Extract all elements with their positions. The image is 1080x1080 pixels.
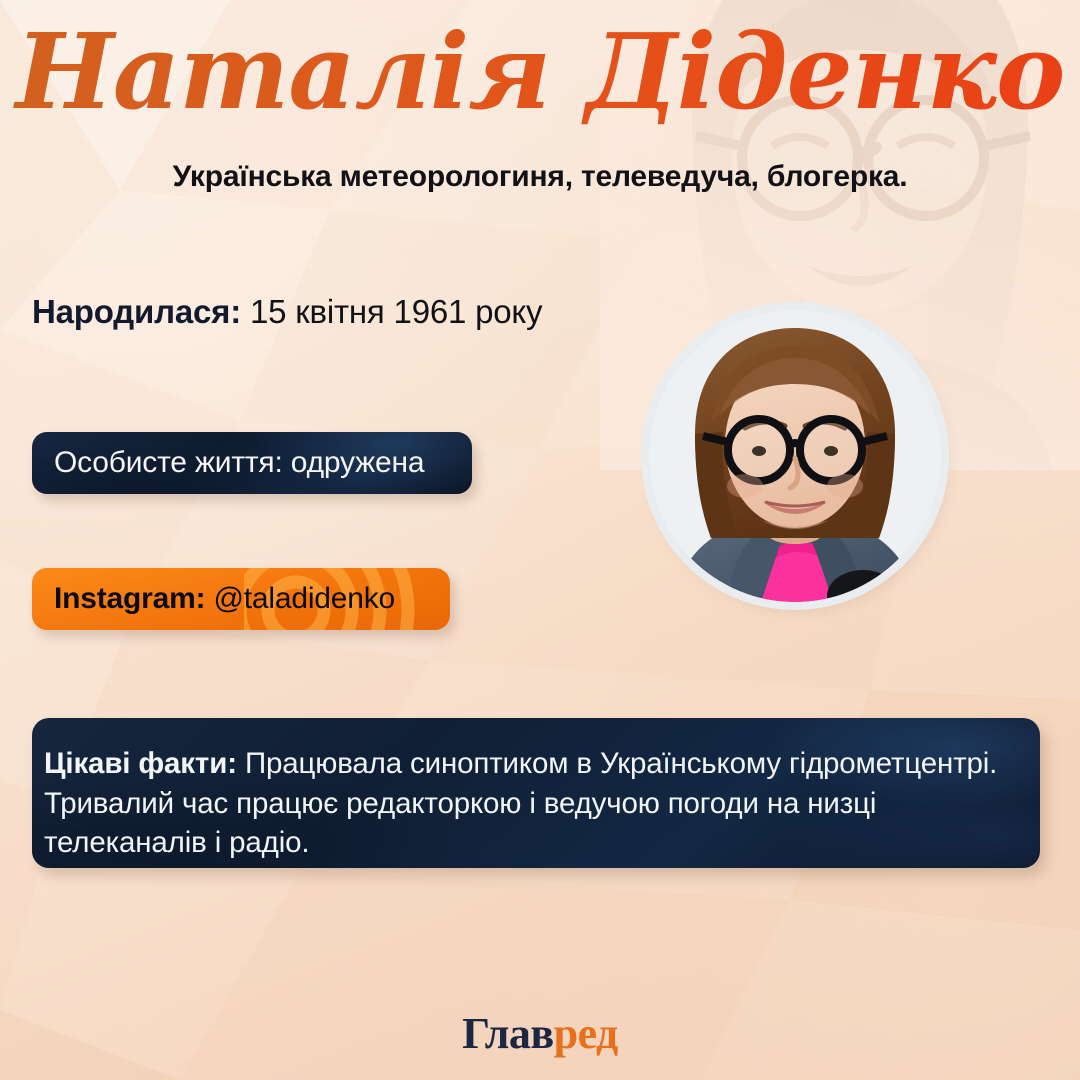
instagram-badge[interactable]: Instagram: @taladidenko [32,568,450,630]
portrait-avatar [649,310,941,602]
page-title: Наталія Діденко [0,14,1080,130]
facts-text: Цікаві факти: Працювала синоптиком в Укр… [32,718,1040,863]
infographic-card: Наталія Діденко Українська метеорологиня… [0,0,1080,1080]
instagram-label: Instagram: [54,582,205,615]
instagram-handle: @taladidenko [214,582,396,615]
page-subtitle: Українська метеорологиня, телеведуча, бл… [0,160,1080,194]
logo-part-orange: ред [554,1009,618,1058]
site-logo[interactable]: Главред [0,1008,1080,1059]
instagram-text: Instagram: @taladidenko [32,582,417,616]
birth-date-label: Народилася: [32,293,241,330]
personal-life-text: Особисте життя: одружена [32,446,446,480]
interesting-facts-block: Цікаві факти: Працювала синоптиком в Укр… [32,718,1040,868]
personal-life-badge: Особисте життя: одружена [32,432,472,494]
facts-label: Цікаві факти: [44,747,237,780]
logo-part-dark: Глав [462,1009,553,1058]
portrait-illustration [649,310,941,602]
birth-date-value: 15 квітня 1961 року [250,293,542,330]
birth-date-line: Народилася: 15 квітня 1961 року [32,293,542,331]
